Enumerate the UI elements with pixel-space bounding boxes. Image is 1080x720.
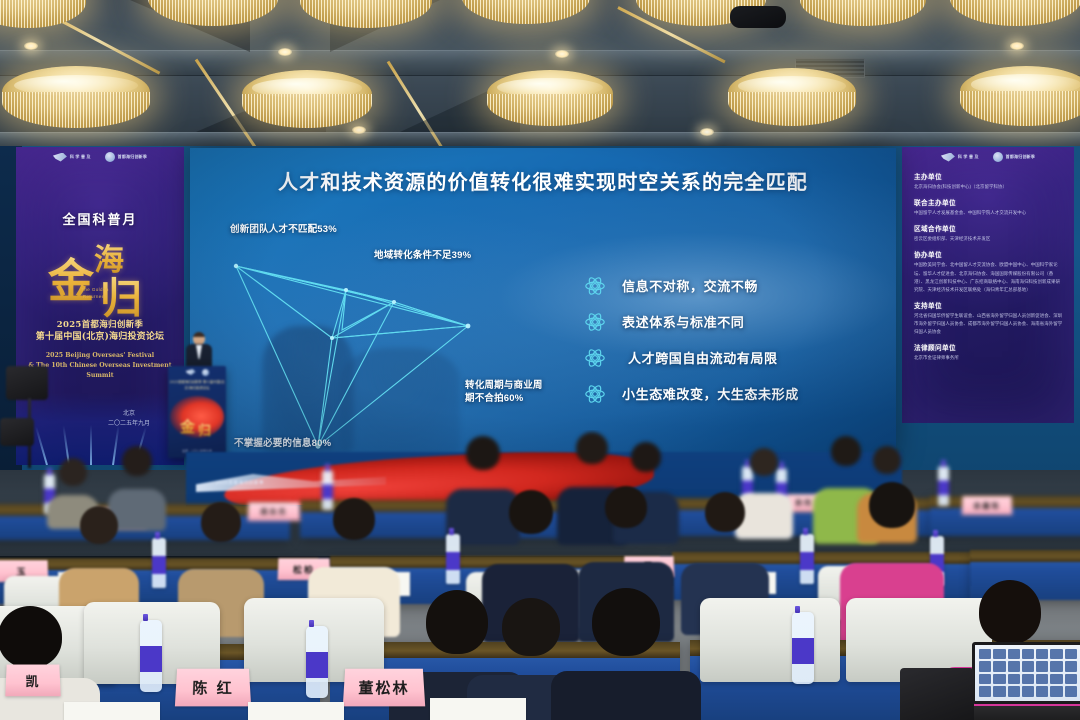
organizer-heading: 联合主办单位 [914, 197, 1064, 207]
led-presentation-screen: 人才和技术资源的价值转化很难实现时空关系的完全匹配 [190, 148, 896, 456]
person-head [576, 432, 608, 464]
organizer-section: 主办单位 北京海归协会(科技创新中心)（北京留学科协） [914, 171, 1064, 191]
chandelier [0, 0, 86, 28]
ceiling-spotlight [1010, 42, 1024, 50]
logo-kejibu: 科 学 普 及 [941, 153, 979, 162]
audience-member [850, 482, 934, 612]
banner-title-cn-line2: 第十届中国(北京)海归投资论坛 [22, 331, 178, 344]
ceiling-projector [730, 6, 786, 28]
atom-icon [584, 383, 606, 405]
laptop-display [975, 645, 1080, 701]
audience-member [186, 502, 256, 610]
organizer-body: 密云区委组织部、天津经济技术开发区 [914, 235, 1064, 243]
water-bottle [792, 612, 814, 684]
diagram-label-innovation-team: 创新团队人才不匹配53% [230, 224, 337, 237]
slide-title: 人才和技术资源的价值转化很难实现时空关系的完全匹配 [190, 166, 896, 195]
banner-left-logos: 科 学 普 及 首都海归创新季 [16, 152, 184, 162]
person-head [869, 482, 915, 528]
video-camera [6, 366, 48, 400]
globe-icon [105, 152, 115, 162]
laptop-screen [972, 642, 1080, 704]
banner-kicker: 全国科普月 [16, 209, 184, 228]
diagram-label-conversion-cycle: 转化周期与商业周期不合拍60% [465, 380, 551, 406]
organizer-heading: 主办单位 [914, 171, 1064, 181]
chandelier [960, 66, 1080, 126]
podium-logos [168, 369, 226, 376]
chandelier [148, 0, 278, 26]
banner-date-line1: 北京 [108, 409, 150, 419]
chandelier [800, 0, 926, 26]
organizer-section: 联合主办单位 中国留学人才发展基金会、中国科学院人才交流开发中心 [914, 197, 1064, 217]
banner-right: 科 学 普 及 首都海归创新季 主办单位 北京海归协会(科技创新中心)（北京留学… [902, 147, 1074, 423]
organizer-heading: 法律顾问单位 [914, 342, 1064, 352]
person-head [750, 448, 778, 476]
person-head [502, 598, 560, 656]
chandelier [487, 70, 613, 126]
ceiling-spotlight [700, 128, 714, 136]
notepad [64, 702, 160, 720]
logo-shoudu-label: 首都海归创新季 [118, 155, 147, 160]
person-head [631, 442, 661, 472]
podium-header-text: 2025首都海归创新季 第十届中国(北京)海归投资论坛 [168, 380, 226, 392]
organizer-section: 区域合作单位 密云区委组织部、天津经济技术开发区 [914, 223, 1064, 243]
banner-date-line2: 二〇二五年九月 [108, 419, 150, 429]
namecard: 董松林 [343, 669, 425, 707]
logo-kejibu-label: 科 学 普 及 [958, 155, 979, 160]
organizer-body: 中国留学人才发展基金会、中国科学院人才交流开发中心 [914, 209, 1064, 217]
organizer-body: 中国欧美同学会、北中国留人才交流协会、欧盟中国中心、中国科学家论坛、留华人才促进… [914, 261, 1064, 294]
organizer-body: 河北省归国华侨留学生联谊会、山西省海外留学归国人员创新促进会、深圳市海外留学归国… [914, 312, 1064, 336]
organizer-body: 北京海归协会(科技创新中心)（北京留学科协） [914, 183, 1064, 191]
audience-chair [700, 598, 840, 682]
person-head [59, 458, 87, 486]
chandelier [2, 66, 150, 128]
person-head [122, 446, 152, 476]
gold-logo-subtitle: The Golden Returnees [72, 287, 118, 301]
chandelier [242, 70, 372, 128]
conference-hall-scene: 科 学 普 及 首都海归创新季 全国科普月 金 海 归 The Golden R… [0, 0, 1080, 720]
bullet-item: 人才跨国自由流动有局限 [584, 342, 874, 373]
audience-member [690, 492, 760, 606]
network-diagram: 创新团队人才不匹配53% 地域转化条件不足39% 转化周期与商业周期不合拍60%… [202, 226, 542, 456]
ceiling-spotlight [555, 50, 569, 58]
chandelier [728, 68, 856, 126]
diagram-label-regional-conditions: 地域转化条件不足39% [374, 250, 471, 263]
water-bottle [446, 534, 460, 584]
swoosh-icon [53, 153, 67, 162]
person-head [80, 506, 118, 544]
banner-right-logos: 科 学 普 及 首都海归创新季 [902, 152, 1074, 162]
person-head [592, 588, 660, 656]
globe-icon [993, 152, 1003, 162]
camera [900, 668, 974, 720]
ceiling-spotlight [278, 48, 292, 56]
namecard: 陈 红 [175, 669, 251, 707]
water-bottle [140, 620, 162, 692]
audience-member [66, 506, 132, 606]
notepad [248, 702, 344, 720]
atom-icon [584, 347, 606, 369]
logo-kejibu-label: 科 学 普 及 [70, 155, 91, 160]
person-head [605, 486, 647, 528]
bullet-text: 信息不对称，交流不畅 [622, 276, 758, 295]
water-bottle [938, 466, 949, 506]
logo-kejibu: 科 学 普 及 [53, 153, 91, 162]
bullet-item: 小生态难改变，大生态未形成 [584, 378, 874, 409]
swoosh-icon [941, 153, 955, 162]
organizer-list: 主办单位 北京海归协会(科技创新中心)（北京留学科协） 联合主办单位 中国留学人… [914, 171, 1064, 369]
organizer-body: 北京市金证律师事务所 [914, 354, 1064, 362]
ceiling [0, 0, 1080, 148]
person-head [0, 606, 62, 668]
gold-char-jin: 金 [48, 245, 94, 311]
water-bottle [306, 626, 328, 698]
slide-bullet-list: 信息不对称，交流不畅 表述体系与标准不同 [584, 270, 874, 414]
banner-title-en-line1: 2025 Beijing Overseas' Festival [20, 351, 180, 361]
person-head [873, 446, 901, 474]
globe-icon [202, 369, 209, 376]
organizer-heading: 协办单位 [914, 249, 1064, 259]
organizer-section: 法律顾问单位 北京市金证律师事务所 [914, 342, 1064, 362]
swoosh-icon [186, 369, 196, 375]
water-bottle [800, 534, 814, 584]
chandelier [950, 0, 1080, 26]
namecard: 金鑫铭 [962, 496, 1013, 515]
person-head [705, 492, 745, 532]
organizer-section: 支持单位 河北省归国华侨留学生联谊会、山西省海外留学归国人员创新促进会、深圳市海… [914, 300, 1064, 336]
chandelier [462, 0, 590, 24]
bullet-item: 信息不对称，交流不畅 [584, 270, 874, 301]
person-head [509, 490, 553, 534]
audience-member [562, 588, 690, 720]
laptop-keyboard[interactable] [966, 706, 1080, 720]
person-head [201, 502, 241, 542]
notepad [430, 698, 526, 720]
golden-returnee-logo: 金 海 归 The Golden Returnees [44, 231, 156, 317]
logo-shoudu-label: 首都海归创新季 [1006, 155, 1035, 160]
person-head [466, 436, 500, 470]
namecard: 凯 [5, 665, 60, 697]
person-head [333, 498, 375, 540]
logo-shoudu: 首都海归创新季 [105, 152, 147, 162]
banner-date: 北京 二〇二五年九月 [108, 409, 150, 429]
bullet-text: 人才跨国自由流动有局限 [628, 348, 778, 367]
person-head [979, 580, 1041, 644]
person-torso [551, 671, 701, 720]
person-head [831, 436, 861, 466]
laptop[interactable] [972, 642, 1080, 720]
audience-member [318, 498, 390, 610]
bullet-item: 表述体系与标准不同 [584, 306, 874, 337]
bullet-text: 小生态难改变，大生态未形成 [622, 384, 799, 403]
bullet-text: 表述体系与标准不同 [622, 312, 744, 331]
atom-icon [584, 311, 606, 333]
banner-title-cn-line1: 2025首都海归创新季 [22, 319, 178, 331]
network-diagram-svg [202, 226, 542, 456]
banner-left: 科 学 普 及 首都海归创新季 全国科普月 金 海 归 The Golden R… [16, 147, 184, 465]
ceiling-spotlight [24, 42, 38, 50]
organizer-section: 协办单位 中国欧美同学会、北中国留人才交流协会、欧盟中国中心、中国科学家论坛、留… [914, 249, 1064, 294]
chandelier [300, 0, 432, 28]
logo-shoudu: 首都海归创新季 [993, 152, 1035, 162]
banner-title-cn: 2025首都海归创新季 第十届中国(北京)海归投资论坛 [22, 319, 178, 344]
audience-area: 红梅 周永杰 吴宗斌 吴伟 金鑫铭 [0, 430, 1080, 720]
organizer-heading: 支持单位 [914, 300, 1064, 310]
water-bottle [152, 538, 166, 588]
organizer-heading: 区域合作单位 [914, 223, 1064, 233]
atom-icon [584, 275, 606, 297]
